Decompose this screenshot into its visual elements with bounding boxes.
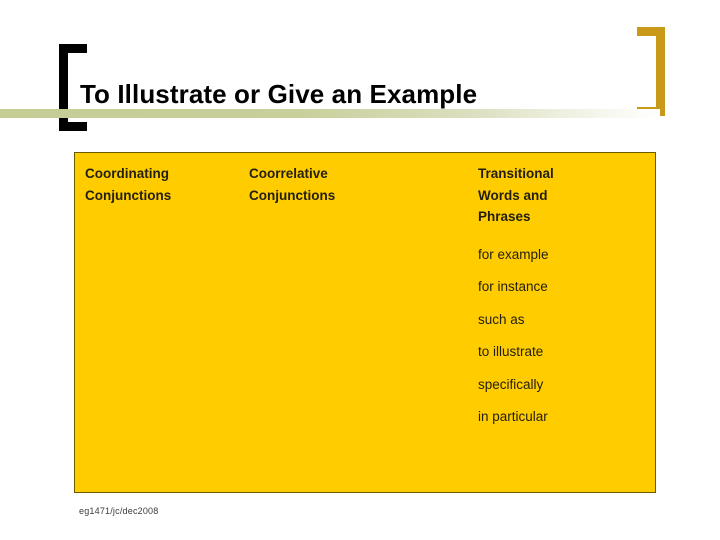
- column-group: Coordinating Conjunctions Coorrelative C…: [75, 153, 655, 492]
- column-heading-line: Coorrelative: [249, 163, 449, 185]
- list-item: for instance: [478, 279, 643, 295]
- column-heading: Transitional Words and Phrases: [478, 163, 643, 228]
- column-correlative-conjunctions: Coorrelative Conjunctions: [249, 163, 449, 206]
- column-heading-line: Conjunctions: [249, 185, 449, 207]
- footer-reference-code: eg1471/jc/dec2008: [79, 506, 158, 516]
- column-item-list: for example for instance such as to illu…: [478, 247, 643, 426]
- column-heading-line: Transitional: [478, 163, 643, 185]
- column-heading-line: Words and: [478, 185, 643, 207]
- list-item: to illustrate: [478, 344, 643, 360]
- right-bracket-stem-icon: [656, 27, 665, 116]
- list-item: such as: [478, 312, 643, 328]
- list-item: in particular: [478, 409, 643, 425]
- column-heading-line: Coordinating: [85, 163, 235, 185]
- column-heading: Coordinating Conjunctions: [85, 163, 235, 206]
- column-coordinating-conjunctions: Coordinating Conjunctions: [85, 163, 235, 206]
- left-bracket-top-arm-icon: [59, 44, 87, 53]
- left-bracket-bottom-arm-icon: [59, 122, 87, 131]
- column-transitional-words-and-phrases: Transitional Words and Phrases for examp…: [478, 163, 643, 442]
- column-heading-line: Conjunctions: [85, 185, 235, 207]
- content-panel: Coordinating Conjunctions Coorrelative C…: [74, 152, 656, 493]
- column-heading: Coorrelative Conjunctions: [249, 163, 449, 206]
- slide-canvas: To Illustrate or Give an Example Coordin…: [0, 0, 720, 540]
- page-title: To Illustrate or Give an Example: [80, 79, 477, 110]
- right-bracket-top-arm-icon: [637, 27, 665, 36]
- title-underline-rule: [0, 109, 660, 118]
- list-item: specifically: [478, 377, 643, 393]
- list-item: for example: [478, 247, 643, 263]
- column-heading-line: Phrases: [478, 206, 643, 228]
